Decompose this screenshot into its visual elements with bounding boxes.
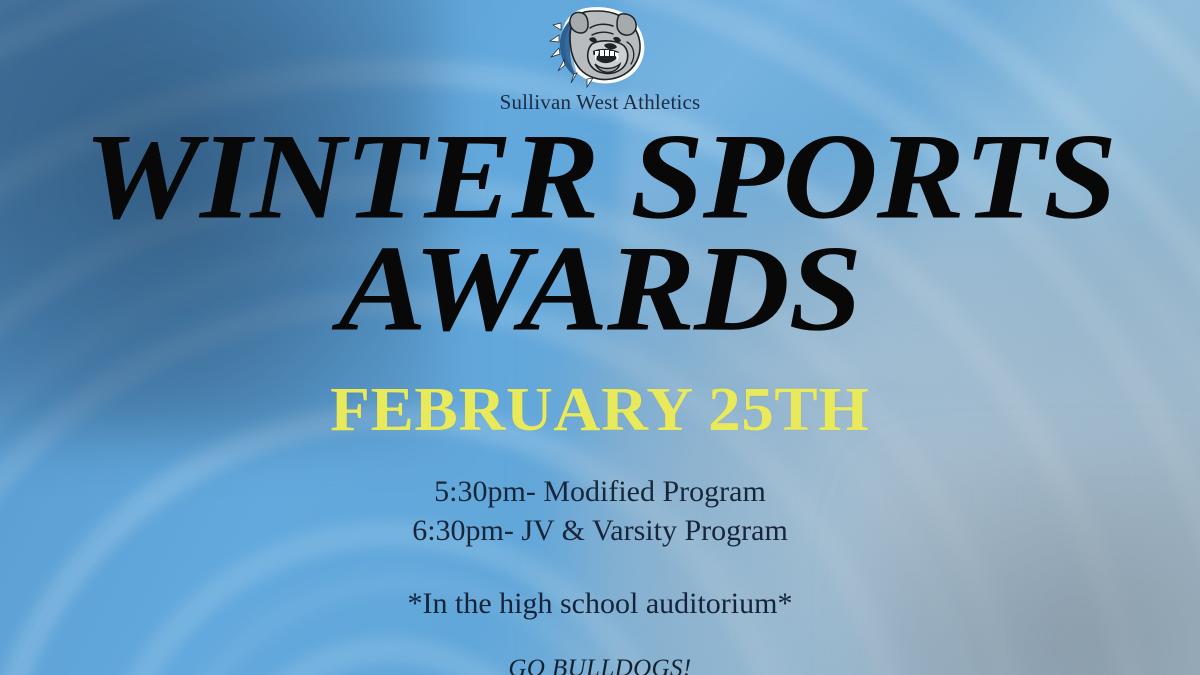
bulldog-mascot-icon [548, 4, 652, 88]
cheer-text: GO BULLDOGS! [508, 655, 691, 675]
page-title: WINTER SPORTS AWARDS [147, 121, 1053, 341]
schedule-item: 5:30pm- Modified Program [412, 472, 788, 512]
event-date: FEBRUARY 25TH [330, 375, 869, 446]
poster-content: Sullivan West Athletics WINTER SPORTS AW… [0, 0, 1200, 675]
schedule-item: 6:30pm- JV & Varsity Program [412, 511, 788, 551]
headline-line-2: AWARDS [84, 233, 1116, 347]
headline-line-1: WINTER SPORTS [84, 121, 1116, 235]
winter-sports-awards-poster: Sullivan West Athletics WINTER SPORTS AW… [0, 0, 1200, 675]
schedule-list: 5:30pm- Modified Program 6:30pm- JV & Va… [412, 472, 788, 551]
venue-note: *In the high school auditorium* [408, 587, 793, 621]
